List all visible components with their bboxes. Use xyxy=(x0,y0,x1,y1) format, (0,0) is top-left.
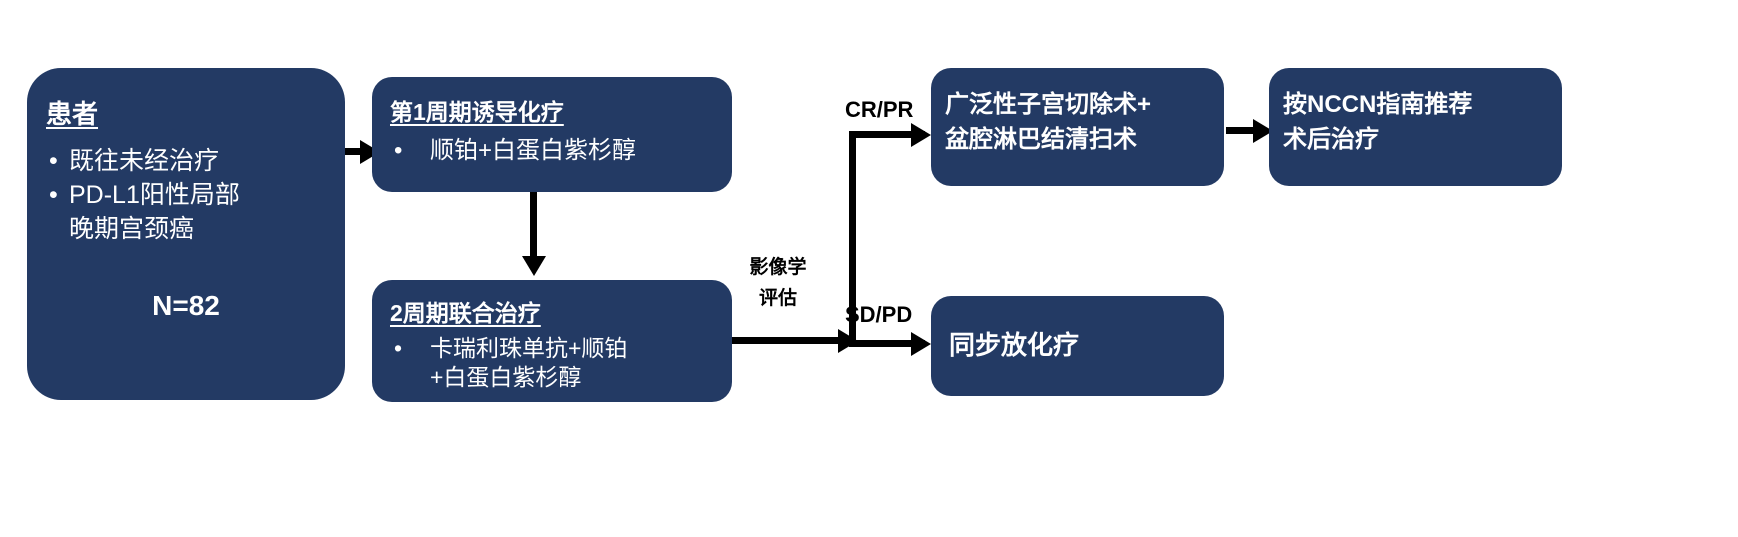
edge-combination-to-split xyxy=(732,337,850,344)
flowchart-canvas: 影像学 评估 CR/PR SD/PD 患者 既往未经治疗 PD-L1阳性局部 晚… xyxy=(0,0,1738,537)
node-chemoradiation[interactable]: 同步放化疗 xyxy=(931,296,1224,396)
edge-label-imaging-assessment: 影像学 评估 xyxy=(745,252,811,315)
arrowhead-split-to-surgery xyxy=(911,123,931,147)
node-induction-bullets: 顺铂+白蛋白紫杉醇 xyxy=(390,135,732,166)
node-patients-bullets: 既往未经治疗 PD-L1阳性局部 晚期宫颈癌 xyxy=(45,145,345,246)
arrowhead-split-to-chemoradiation xyxy=(911,332,931,356)
node-nccn-text: 按NCCN指南推荐 术后治疗 xyxy=(1283,88,1562,158)
node-induction-chemo[interactable]: 第1周期诱导化疗 顺铂+白蛋白紫杉醇 xyxy=(372,77,732,192)
node-surgery[interactable]: 广泛性子宫切除术+ 盆腔淋巴结清扫术 xyxy=(931,68,1224,186)
list-item: 卡瑞利珠单抗+顺铂 +白蛋白紫杉醇 xyxy=(390,334,732,393)
node-chemoradiation-text: 同步放化疗 xyxy=(949,330,1224,361)
node-patients-enrollment: N=82 xyxy=(27,290,345,322)
node-patients-title: 患者 xyxy=(46,94,345,131)
list-item: PD-L1阳性局部 晚期宫颈癌 xyxy=(45,179,345,247)
node-combination-bullets: 卡瑞利珠单抗+顺铂 +白蛋白紫杉醇 xyxy=(390,334,732,393)
node-surgery-text: 广泛性子宫切除术+ 盆腔淋巴结清扫术 xyxy=(945,88,1224,158)
edge-label-cr-pr: CR/PR xyxy=(845,97,913,123)
list-item: 既往未经治疗 xyxy=(45,145,345,179)
node-patients[interactable]: 患者 既往未经治疗 PD-L1阳性局部 晚期宫颈癌 N=82 xyxy=(27,68,345,400)
edge-induction-to-combination xyxy=(530,192,537,260)
edge-label-sd-pd: SD/PD xyxy=(845,302,912,328)
node-nccn-adjuvant[interactable]: 按NCCN指南推荐 术后治疗 xyxy=(1269,68,1562,186)
node-combination-therapy[interactable]: 2周期联合治疗 卡瑞利珠单抗+顺铂 +白蛋白紫杉醇 xyxy=(372,280,732,402)
arrowhead-induction-to-combination xyxy=(522,256,546,276)
node-combination-title: 2周期联合治疗 xyxy=(390,294,732,328)
node-induction-title: 第1周期诱导化疗 xyxy=(390,93,732,127)
list-item: 顺铂+白蛋白紫杉醇 xyxy=(390,135,732,166)
